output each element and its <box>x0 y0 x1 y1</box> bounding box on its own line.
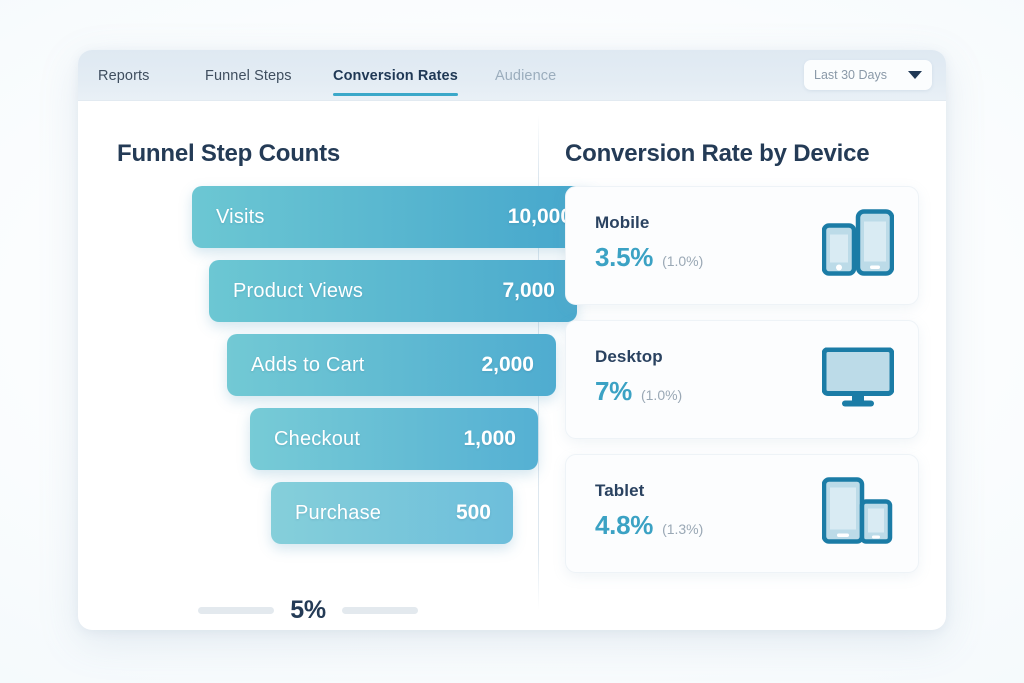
funnel-step-label: Checkout <box>274 428 463 451</box>
funnel-chart: Visits10,000Product Views7,000Adds to Ca… <box>78 186 538 556</box>
conversion-rule-left <box>198 607 274 614</box>
desktop-monitor-icon <box>822 347 894 412</box>
funnel-step[interactable]: Product Views7,000 <box>78 260 538 334</box>
active-tab-underline <box>333 93 458 96</box>
date-range-dropdown[interactable]: Last 30 Days <box>804 60 932 90</box>
device-name: Mobile <box>595 213 703 233</box>
funnel-step[interactable]: Adds to Cart2,000 <box>78 334 538 408</box>
funnel-step-value: 1,000 <box>463 427 516 451</box>
device-delta: (1.0%) <box>662 253 703 269</box>
chevron-down-icon <box>908 71 922 79</box>
device-delta: (1.3%) <box>662 521 703 537</box>
device-card-desktop[interactable]: Desktop7%(1.0%) <box>565 320 919 439</box>
device-panel: Conversion Rate by Device Mobile3.5%(1.0… <box>538 101 946 630</box>
funnel-step-label: Product Views <box>233 280 502 303</box>
device-metrics: 3.5%(1.0%) <box>595 242 703 273</box>
device-card-text: Desktop7%(1.0%) <box>595 347 682 407</box>
tablet-phone-icon <box>822 475 894 552</box>
funnel-step-value: 500 <box>456 501 491 525</box>
device-card-mobile[interactable]: Mobile3.5%(1.0%) <box>565 186 919 305</box>
funnel-step-value: 2,000 <box>481 353 534 377</box>
funnel-bar: Visits10,000 <box>192 186 594 248</box>
tab-conversion-rates[interactable]: Conversion Rates <box>333 50 458 101</box>
tab-bar: ReportsFunnel StepsConversion RatesAudie… <box>78 50 946 101</box>
tab-label: Audience <box>495 68 556 84</box>
device-name: Tablet <box>595 481 703 501</box>
device-panel-title: Conversion Rate by Device <box>565 140 869 168</box>
funnel-step[interactable]: Purchase500 <box>78 482 538 556</box>
conversion-rule-right <box>342 607 418 614</box>
funnel-panel: Funnel Step Counts Visits10,000Product V… <box>78 101 538 630</box>
device-conversion-rate: 3.5% <box>595 242 653 273</box>
device-metrics: 4.8%(1.3%) <box>595 510 703 541</box>
overall-conversion-indicator: 5% <box>78 596 538 625</box>
device-metrics: 7%(1.0%) <box>595 376 682 407</box>
funnel-bar: Checkout1,000 <box>250 408 538 470</box>
device-card-text: Tablet4.8%(1.3%) <box>595 481 703 541</box>
dashboard-body: Funnel Step Counts Visits10,000Product V… <box>78 101 946 630</box>
tab-audience[interactable]: Audience <box>495 50 556 101</box>
overall-conversion-value: 5% <box>290 596 326 625</box>
tab-label: Reports <box>98 68 149 84</box>
funnel-bar: Adds to Cart2,000 <box>227 334 556 396</box>
funnel-step-label: Visits <box>216 206 508 229</box>
screen: ReportsFunnel StepsConversion RatesAudie… <box>0 0 1024 683</box>
tab-label: Funnel Steps <box>205 68 292 84</box>
tab-funnel-steps[interactable]: Funnel Steps <box>205 50 292 101</box>
device-card-text: Mobile3.5%(1.0%) <box>595 213 703 273</box>
device-conversion-rate: 7% <box>595 376 632 407</box>
tab-reports[interactable]: Reports <box>98 50 149 101</box>
funnel-bar: Purchase500 <box>271 482 513 544</box>
device-card-tablet[interactable]: Tablet4.8%(1.3%) <box>565 454 919 573</box>
device-name: Desktop <box>595 347 682 367</box>
mobile-phones-icon <box>822 207 894 284</box>
funnel-panel-title: Funnel Step Counts <box>117 140 340 168</box>
date-range-value: Last 30 Days <box>814 68 908 82</box>
funnel-step-label: Purchase <box>295 502 456 525</box>
device-conversion-rate: 4.8% <box>595 510 653 541</box>
funnel-step-label: Adds to Cart <box>251 354 481 377</box>
funnel-bar: Product Views7,000 <box>209 260 577 322</box>
funnel-step[interactable]: Checkout1,000 <box>78 408 538 482</box>
funnel-step[interactable]: Visits10,000 <box>78 186 538 260</box>
device-delta: (1.0%) <box>641 387 682 403</box>
dashboard-window: ReportsFunnel StepsConversion RatesAudie… <box>78 50 946 630</box>
device-card-list: Mobile3.5%(1.0%)Desktop7%(1.0%)Tablet4.8… <box>565 186 919 588</box>
tab-label: Conversion Rates <box>333 68 458 84</box>
